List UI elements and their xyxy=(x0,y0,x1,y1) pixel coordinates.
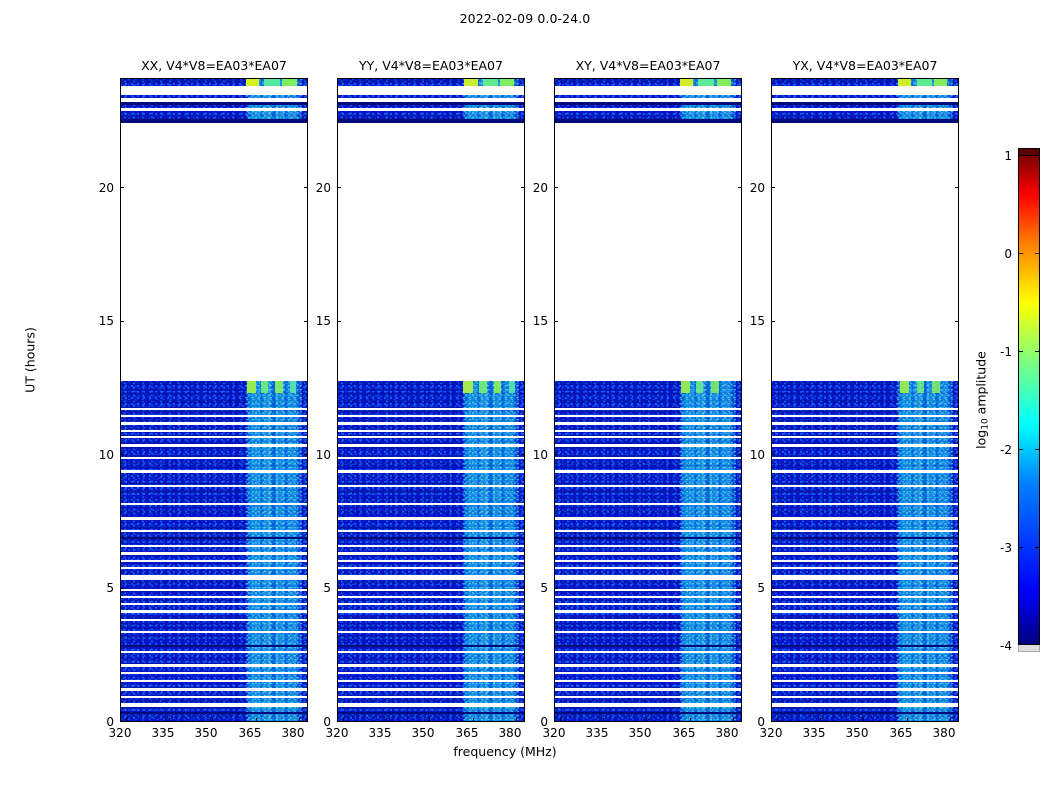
hot-block xyxy=(264,79,280,86)
data-block-top xyxy=(555,79,741,123)
data-block-15h xyxy=(772,381,958,399)
xtick-label-p1-320: 320 xyxy=(104,726,136,740)
panel-yy-plot[interactable] xyxy=(338,79,524,721)
panel-yx-title: YX, V4*V8=EA03*EA07 xyxy=(772,58,958,73)
colorbar-label-prefix: log xyxy=(974,430,989,449)
colorbar-over-extend xyxy=(1018,148,1040,155)
hot-block xyxy=(282,79,297,86)
ytick-label-p1-15: 15 xyxy=(78,314,114,328)
ytick-label-p1-5: 5 xyxy=(78,581,114,595)
panel-xx-plot[interactable] xyxy=(121,79,307,721)
data-block-main xyxy=(772,399,958,721)
panel-xy[interactable]: XY, V4*V8=EA03*EA07 xyxy=(554,78,742,722)
xtick-label-p4-320: 320 xyxy=(755,726,787,740)
xtick-label-p4-380: 380 xyxy=(928,726,960,740)
data-block-top xyxy=(121,79,307,123)
colorbar-tick-0: 0 xyxy=(978,247,1012,261)
ytick-label-p3-15: 15 xyxy=(512,314,548,328)
data-block-main xyxy=(555,399,741,721)
panel-yx-plot[interactable] xyxy=(772,79,958,721)
panel-yx[interactable]: YX, V4*V8=EA03*EA07 xyxy=(771,78,959,722)
xtick-label-p1-365: 365 xyxy=(234,726,266,740)
data-block-main xyxy=(121,399,307,721)
xtick-label-p3-350: 350 xyxy=(624,726,656,740)
ytick-label-p4-20: 20 xyxy=(729,181,765,195)
colorbar[interactable] xyxy=(1018,155,1040,645)
panel-xy-title: XY, V4*V8=EA03*EA07 xyxy=(555,58,741,73)
data-block-main xyxy=(338,399,524,721)
data-gap-region xyxy=(555,123,741,381)
xtick-label-p2-350: 350 xyxy=(407,726,439,740)
data-gap-region xyxy=(338,123,524,381)
xtick-label-p3-320: 320 xyxy=(538,726,570,740)
xtick-label-p2-320: 320 xyxy=(321,726,353,740)
y-axis-label: UT (hours) xyxy=(23,327,38,393)
ytick-label-p2-5: 5 xyxy=(295,581,331,595)
colorbar-tick-1: 1 xyxy=(978,149,1012,163)
data-block-top xyxy=(338,79,524,123)
xtick-label-p2-365: 365 xyxy=(451,726,483,740)
panel-xx[interactable]: XX, V4*V8=EA03*EA07 xyxy=(120,78,308,722)
xtick-label-p4-350: 350 xyxy=(841,726,873,740)
data-gap-region xyxy=(772,123,958,381)
data-block-15h xyxy=(555,381,741,399)
ytick-label-p4-5: 5 xyxy=(729,581,765,595)
xtick-label-p1-350: 350 xyxy=(190,726,222,740)
data-block-top xyxy=(772,79,958,123)
xtick-label-p4-365: 365 xyxy=(885,726,917,740)
xtick-label-p3-365: 365 xyxy=(668,726,700,740)
colorbar-under-extend xyxy=(1018,645,1040,652)
ytick-label-p2-20: 20 xyxy=(295,181,331,195)
data-block-15h xyxy=(338,381,524,399)
ytick-label-p3-20: 20 xyxy=(512,181,548,195)
colorbar-tick--3: -3 xyxy=(978,541,1012,555)
ytick-label-p2-10: 10 xyxy=(295,448,331,462)
xtick-label-p2-335: 335 xyxy=(364,726,396,740)
ytick-label-p2-15: 15 xyxy=(295,314,331,328)
data-gap-region xyxy=(121,123,307,381)
panel-xx-title: XX, V4*V8=EA03*EA07 xyxy=(121,58,307,73)
xtick-label-p1-380: 380 xyxy=(277,726,309,740)
figure-suptitle: 2022-02-09 0.0-24.0 xyxy=(0,11,1050,26)
panel-yy-title: YY, V4*V8=EA03*EA07 xyxy=(338,58,524,73)
x-axis-label: frequency (MHz) xyxy=(0,744,1010,759)
xtick-label-p3-380: 380 xyxy=(711,726,743,740)
ytick-label-p1-10: 10 xyxy=(78,448,114,462)
data-block-15h xyxy=(121,381,307,399)
xtick-label-p1-335: 335 xyxy=(147,726,179,740)
ytick-label-p1-20: 20 xyxy=(78,181,114,195)
ytick-label-p3-10: 10 xyxy=(512,448,548,462)
panel-yy[interactable]: YY, V4*V8=EA03*EA07 xyxy=(337,78,525,722)
xtick-label-p4-335: 335 xyxy=(798,726,830,740)
hot-block xyxy=(246,79,259,86)
ytick-label-p3-5: 5 xyxy=(512,581,548,595)
colorbar-tick--4: -4 xyxy=(978,639,1012,653)
xtick-label-p2-380: 380 xyxy=(494,726,526,740)
ytick-label-p4-10: 10 xyxy=(729,448,765,462)
colorbar-label-suffix: amplitude xyxy=(974,351,989,418)
panel-xy-plot[interactable] xyxy=(555,79,741,721)
colorbar-label: log10 amplitude xyxy=(974,351,991,449)
xtick-label-p3-335: 335 xyxy=(581,726,613,740)
figure-canvas: 2022-02-09 0.0-24.0 XX, V4*V8=EA03*EA07 xyxy=(0,0,1050,800)
ytick-label-p4-15: 15 xyxy=(729,314,765,328)
colorbar-label-subscript: 10 xyxy=(981,418,991,429)
